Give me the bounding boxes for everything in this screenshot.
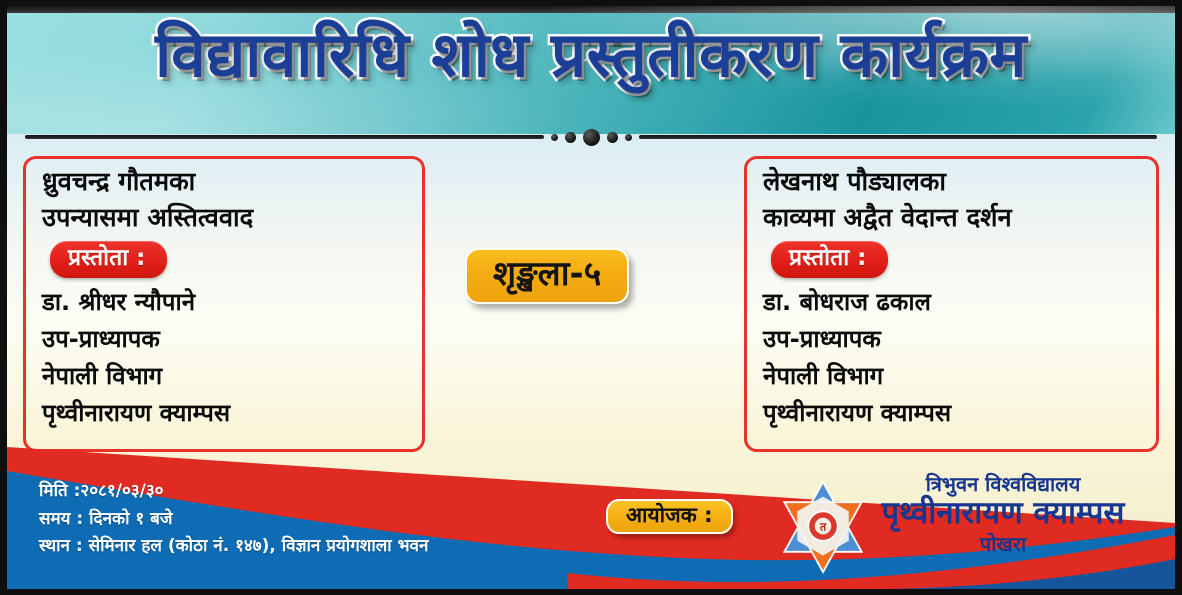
- divider-dot-icon: [625, 134, 632, 141]
- divider-dot-icon: [565, 132, 576, 143]
- panel-left-topic-line1: ध्रुवचन्द्र गौतमका: [42, 170, 406, 196]
- panel-right-presenter-name: डा. बोधराज ढकाल: [763, 290, 1140, 314]
- tu-city-name: पोखरा: [853, 533, 1153, 555]
- page-title: विद्यावारिधि शोध प्रस्तुतीकरण कार्यक्रम: [7, 22, 1175, 89]
- poster-canvas: विद्यावारिधि शोध प्रस्तुतीकरण कार्यक्रम …: [7, 6, 1175, 589]
- divider: [25, 128, 1157, 146]
- panel-left-presenter-label: प्रस्तोता :: [50, 241, 167, 278]
- panel-right-topic-line1: लेखनाथ पौड्यालका: [763, 170, 1140, 196]
- panel-left-presenter-name: डा. श्रीधर न्यौपाने: [42, 290, 406, 314]
- divider-dot-icon: [583, 129, 600, 146]
- event-time: समय : दिनको १ बजे: [39, 506, 428, 534]
- organizer-institution: त्रिभुवन विश्वविद्यालय पृथ्वीनारायण क्या…: [853, 474, 1153, 555]
- panel-left-department: नेपाली विभाग: [42, 364, 406, 388]
- panel-right-department: नेपाली विभाग: [763, 364, 1140, 388]
- panel-left-topic-line2: उपन्यासमा अस्तित्ववाद: [42, 206, 406, 232]
- presentation-panel-right: लेखनाथ पौड्यालका काव्यमा अद्वैत वेदान्त …: [744, 156, 1159, 452]
- divider-dot-icon: [607, 132, 618, 143]
- event-date: मिति :२०८१/०३/३०: [39, 478, 428, 506]
- poster-header: विद्यावारिधि शोध प्रस्तुतीकरण कार्यक्रम: [7, 6, 1175, 134]
- panel-right-designation: उप-प्राध्यापक: [763, 327, 1140, 351]
- divider-dot-icon: [551, 134, 558, 141]
- divider-rule-left: [25, 135, 544, 139]
- series-badge: श‍ृङ्खला-५: [465, 248, 629, 304]
- svg-text:त: त: [819, 521, 827, 534]
- tu-campus-name: पृथ्वीनारायण क्याम्पस: [853, 496, 1153, 531]
- panel-right-presenter-label: प्रस्तोता :: [771, 241, 888, 278]
- poster-root: विद्यावारिधि शोध प्रस्तुतीकरण कार्यक्रम …: [0, 0, 1182, 595]
- presentation-panel-left: ध्रुवचन्द्र गौतमका उपन्यासमा अस्तित्ववाद…: [23, 156, 425, 452]
- panel-right-topic-line2: काव्यमा अद्वैत वेदान्त दर्शन: [763, 206, 1140, 232]
- divider-rule-right: [639, 135, 1158, 139]
- organizer-label-chip: आयोजक :: [606, 499, 733, 534]
- panel-left-designation: उप-प्राध्यापक: [42, 327, 406, 351]
- event-info: मिति :२०८१/०३/३० समय : दिनको १ बजे स्थान…: [39, 478, 428, 561]
- tu-university-name: त्रिभुवन विश्वविद्यालय: [853, 474, 1153, 495]
- event-venue: स्थान : सेमिनार हल (कोठा नं. १४७), विज्ञ…: [39, 533, 428, 561]
